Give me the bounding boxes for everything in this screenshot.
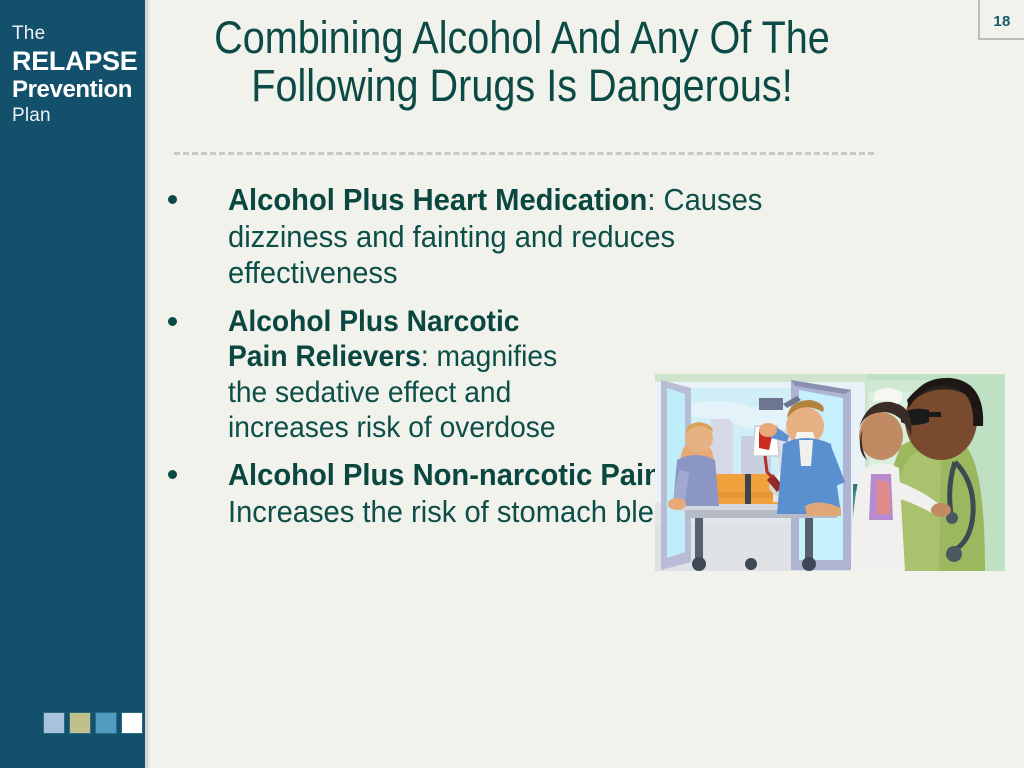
swatch-white (121, 712, 143, 734)
logo-line-relapse: RELAPSE (12, 46, 142, 76)
swatch-blue (95, 712, 117, 734)
bullet-dot-icon (168, 195, 177, 204)
list-item: Alcohol Plus Narcotic Pain Relievers: ma… (160, 304, 600, 446)
slide: The RELAPSE Prevention Plan 18 Combining… (0, 0, 1024, 768)
slide-number-badge: 18 (978, 0, 1024, 40)
bullet-text: Alcohol Plus Narcotic Pain Relievers: ma… (228, 304, 578, 446)
logo-line-prevention: Prevention (12, 76, 142, 104)
bullet-rest: Increases the risk of stomach bleeding (228, 494, 725, 529)
sidebar-edge-highlight (148, 0, 150, 768)
title-divider (174, 152, 874, 155)
slide-number-text: 18 (993, 13, 1010, 30)
bullet-separator: : (647, 182, 663, 217)
list-item: Alcohol Plus Heart Medication: Causes di… (160, 182, 880, 292)
sidebar: The RELAPSE Prevention Plan (0, 0, 145, 768)
emergency-room-gurney-illustration (655, 374, 1005, 571)
color-swatch-row (43, 712, 143, 734)
swatch-light-blue (43, 712, 65, 734)
logo-line-plan: Plan (12, 104, 142, 129)
logo-line-the: The (12, 22, 142, 46)
page-title: Combining Alcohol And Any Of The Followi… (214, 14, 830, 110)
brand-logo: The RELAPSE Prevention Plan (12, 22, 142, 128)
bullet-text: Alcohol Plus Heart Medication: Causes di… (228, 182, 841, 292)
bullet-dot-icon (168, 317, 177, 326)
swatch-khaki (69, 712, 91, 734)
bullet-separator: : (421, 340, 437, 373)
bullet-lead: Alcohol Plus Heart Medication (228, 182, 647, 217)
bullet-dot-icon (168, 470, 177, 479)
